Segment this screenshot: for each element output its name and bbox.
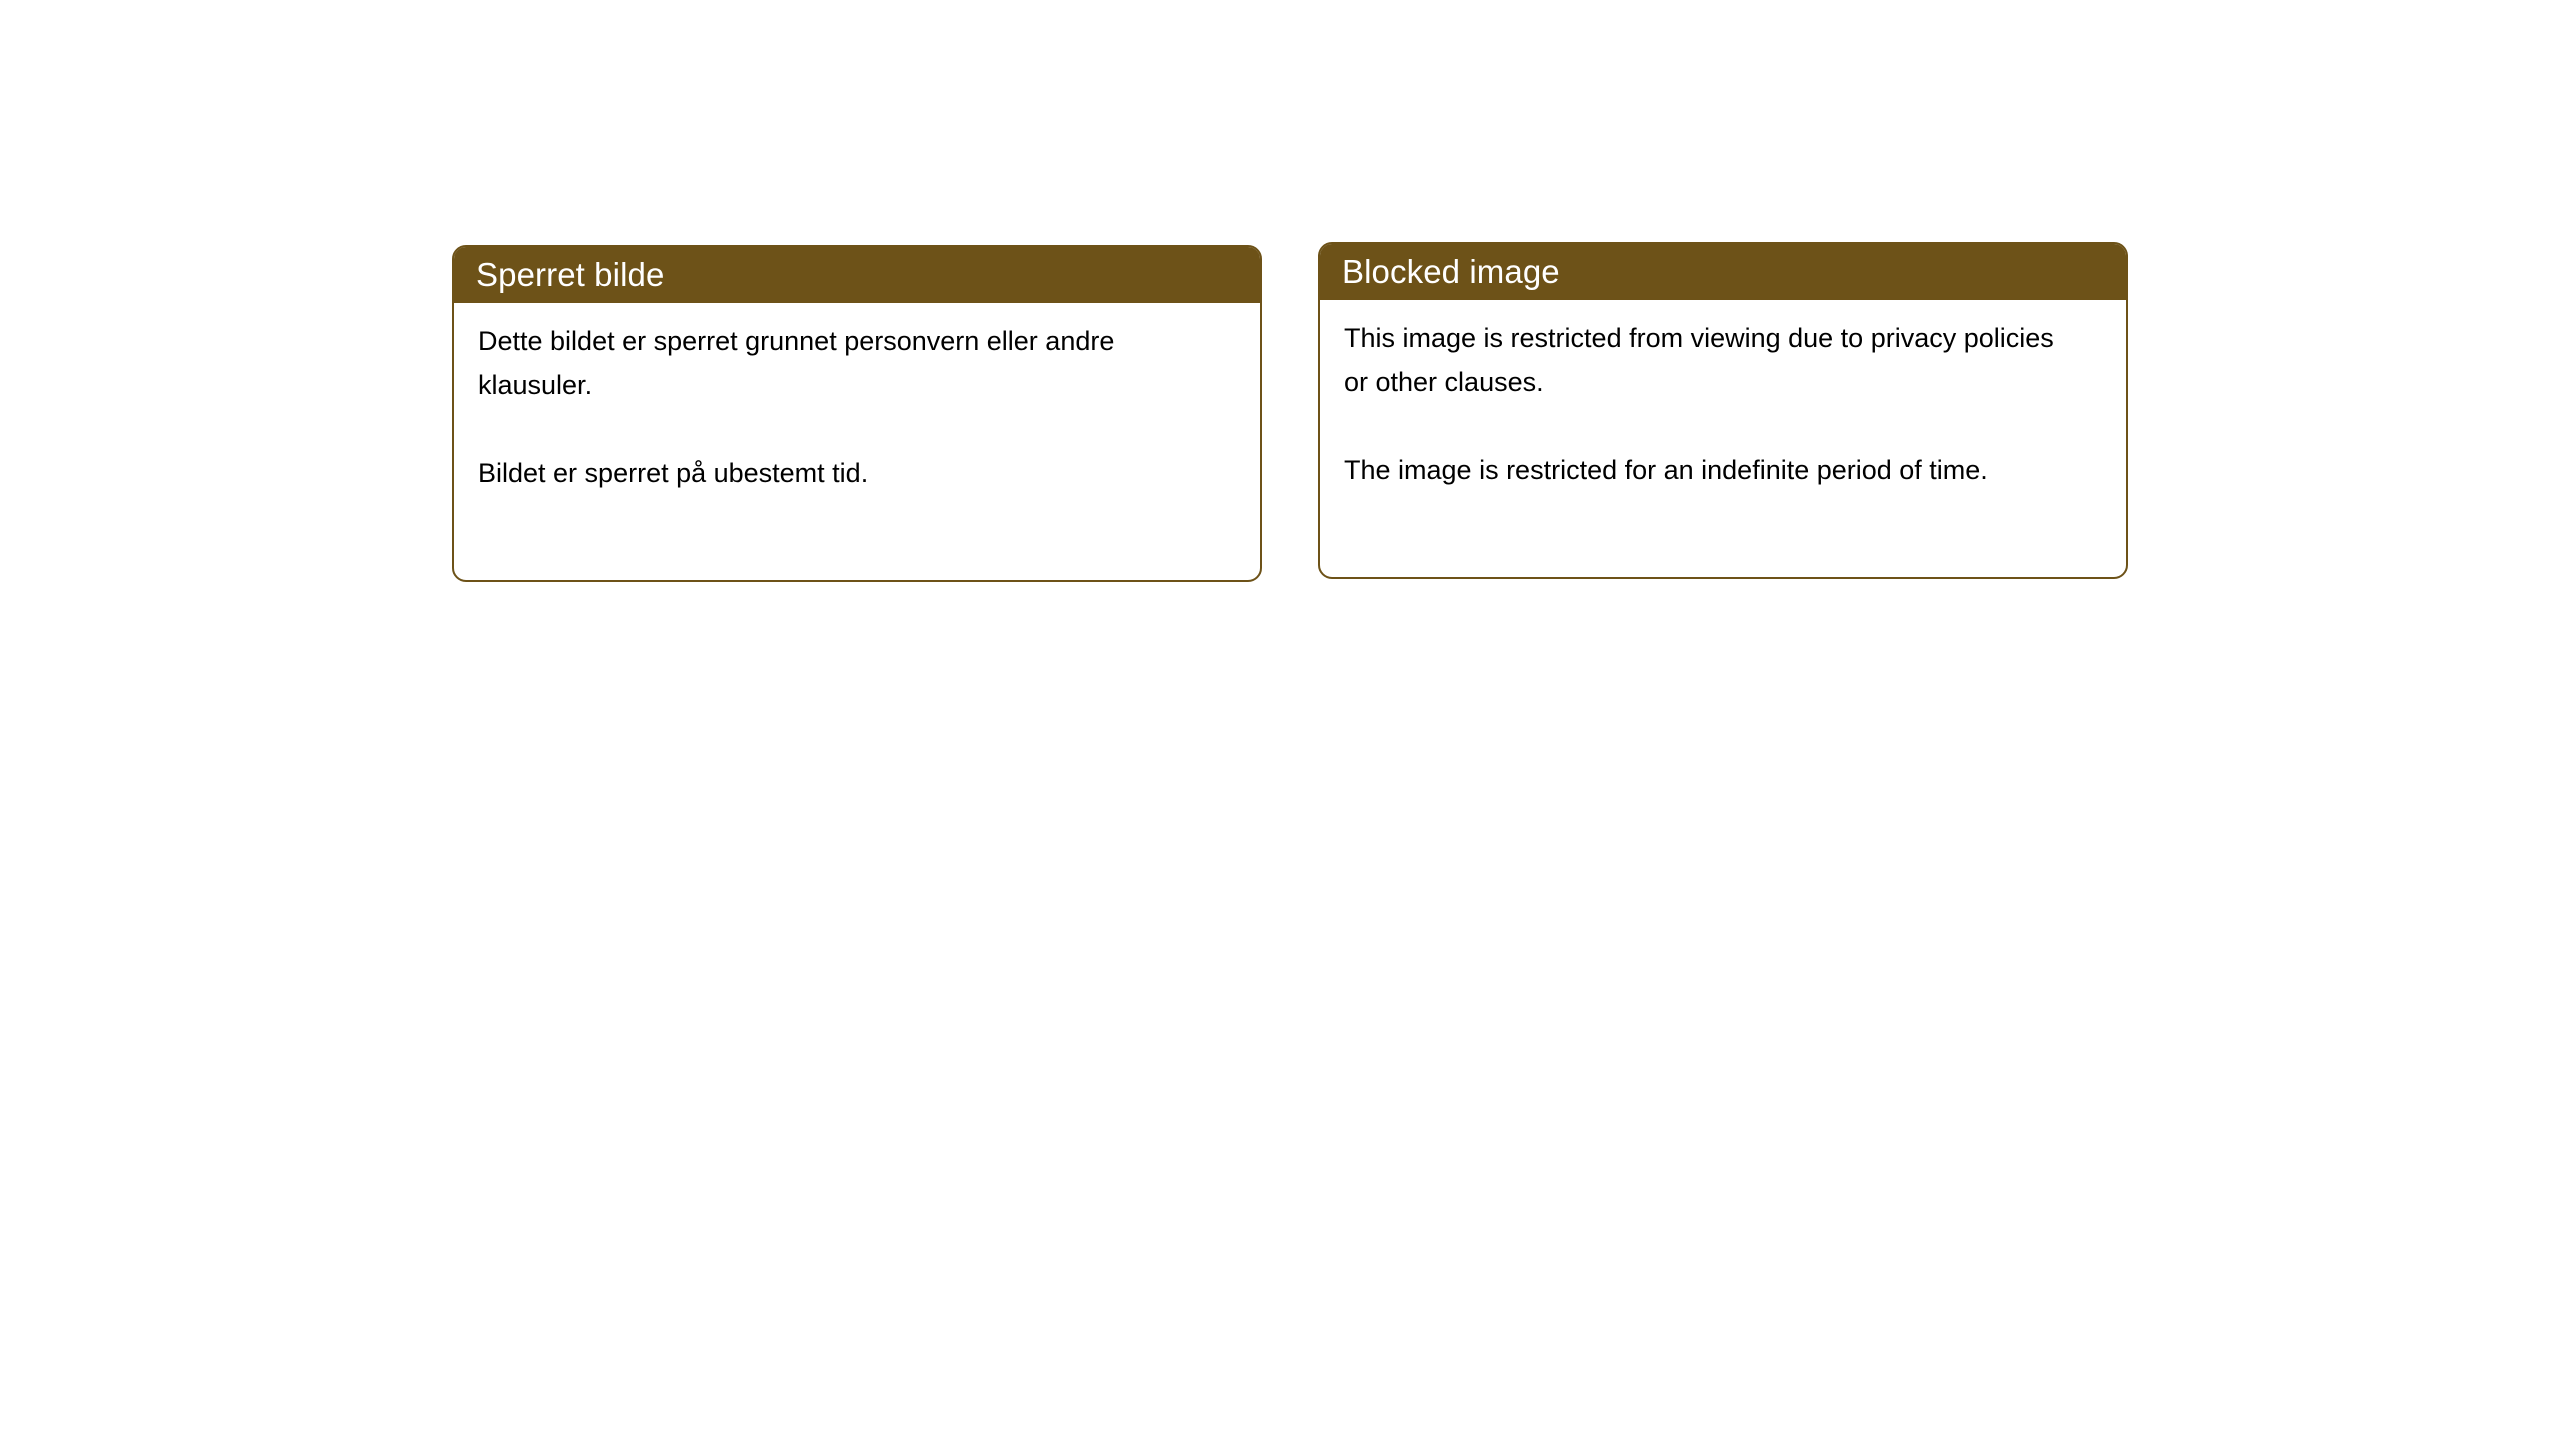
card-body-english: This image is restricted from viewing du… (1320, 300, 2126, 492)
card-header-english: Blocked image (1318, 242, 2128, 300)
card-header-norwegian: Sperret bilde (452, 245, 1262, 303)
card-title-english: Blocked image (1342, 255, 1560, 288)
card-paragraph-reason-norwegian: Dette bildet er sperret grunnet personve… (478, 319, 1218, 407)
card-title-norwegian: Sperret bilde (476, 258, 664, 291)
blocked-image-card-norwegian: Sperret bilde Dette bildet er sperret gr… (452, 245, 1262, 582)
notice-cards-container: Sperret bilde Dette bildet er sperret gr… (0, 0, 2560, 1440)
card-body-norwegian: Dette bildet er sperret grunnet personve… (454, 303, 1260, 495)
card-paragraph-duration-norwegian: Bildet er sperret på ubestemt tid. (478, 451, 1218, 495)
card-paragraph-reason-english: This image is restricted from viewing du… (1344, 316, 2084, 404)
card-paragraph-duration-english: The image is restricted for an indefinit… (1344, 448, 2084, 492)
blocked-image-card-english: Blocked image This image is restricted f… (1318, 242, 2128, 579)
